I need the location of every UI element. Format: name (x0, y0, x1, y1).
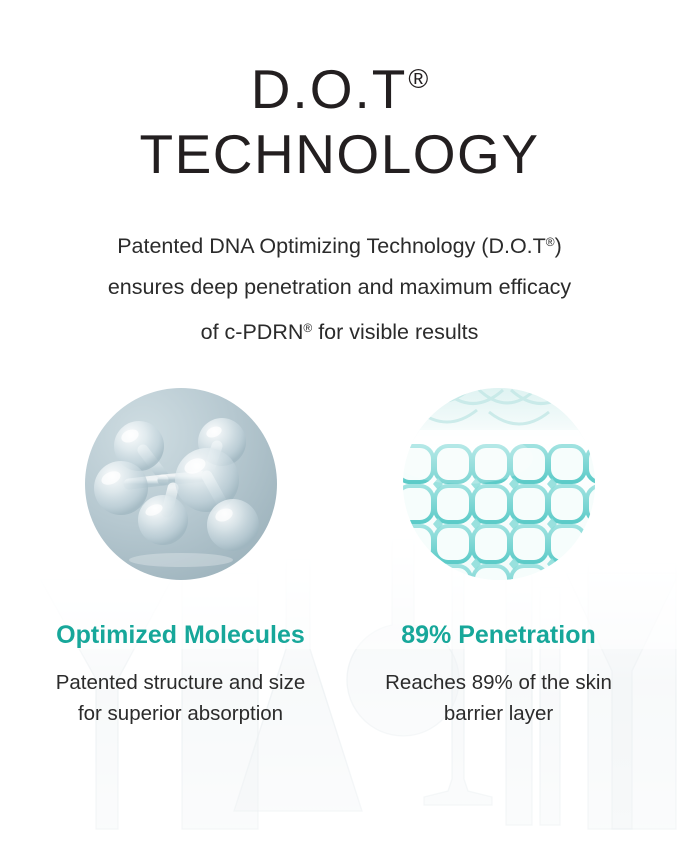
feature-columns: Optimized Molecules Patented structure a… (0, 388, 679, 729)
skin-barrier-matrix-illustration (403, 388, 595, 580)
feature-optimized-molecules: Optimized Molecules Patented structure a… (31, 388, 331, 729)
registered-mark-icon: ® (303, 321, 312, 335)
molecule-illustration (85, 388, 277, 580)
subtitle-line-1-text: Patented DNA Optimizing Technology (D.O.… (117, 234, 546, 258)
feature-description: Reaches 89% of the skin barrier layer (369, 667, 629, 729)
subtitle-line-3-text: of c-PDRN (201, 320, 304, 344)
registered-mark-icon: ® (546, 235, 555, 249)
subtitle-line-1-tail: ) (555, 234, 562, 258)
title-line-technology: TECHNOLOGY (0, 122, 679, 186)
subtitle-line-3: of c-PDRN® for visible results (0, 308, 679, 353)
subtitle-line-1: Patented DNA Optimizing Technology (D.O.… (0, 222, 679, 267)
subtitle-line-2: ensures deep penetration and maximum eff… (0, 267, 679, 308)
title-dot-text: D.O.T (251, 58, 408, 120)
page-title: D.O.T® TECHNOLOGY (0, 48, 679, 186)
subtitle-line-3-tail: for visible results (312, 320, 478, 344)
feature-heading: Optimized Molecules (56, 620, 305, 650)
feature-penetration: 89% Penetration Reaches 89% of the skin … (349, 388, 649, 729)
registered-mark-icon: ® (408, 64, 428, 94)
title-line-dot: D.O.T® (0, 48, 679, 120)
feature-heading: 89% Penetration (401, 620, 596, 650)
feature-description: Patented structure and size for superior… (51, 667, 311, 729)
subtitle-block: Patented DNA Optimizing Technology (D.O.… (0, 222, 679, 353)
